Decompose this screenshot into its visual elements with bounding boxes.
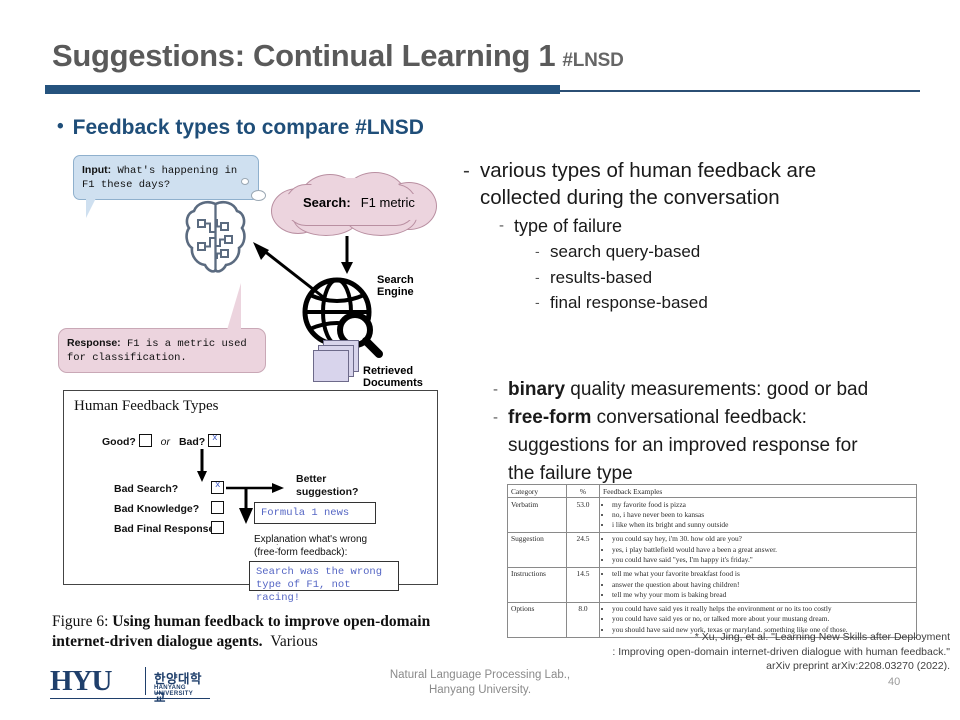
- list-item: you could have said yes it really helps …: [612, 604, 913, 614]
- section-bullet-heading: •Feedback types to compare #LNSD: [57, 116, 424, 140]
- page-title-tag: #LNSD: [562, 50, 623, 72]
- table-header-category: Category: [508, 485, 567, 498]
- list-item: yes, i play battlefield would have a bee…: [612, 545, 913, 555]
- table-header-percent: %: [567, 485, 600, 498]
- good-checkbox[interactable]: [139, 434, 152, 447]
- bullet-l2-type-of-failure: - type of failure: [499, 213, 933, 239]
- thought-dot-small-icon: [241, 178, 249, 185]
- cloud-search-label: Search:: [303, 195, 351, 210]
- bad-checkbox-checked[interactable]: [208, 434, 221, 447]
- list-item: i like when its bright and sunny outside: [612, 520, 913, 530]
- dash-icon: -: [535, 290, 550, 316]
- freeform-line2: suggestions for an improved response for: [508, 435, 858, 456]
- arrow-bad-down-icon: [195, 449, 211, 488]
- bullet-l1-various-types: - various types of human feedback are co…: [463, 157, 933, 211]
- bad-final-response-checkbox[interactable]: [211, 521, 224, 534]
- citation-line3: arXiv preprint arXiv:2208.03270 (2022).: [766, 660, 950, 672]
- title-rule-thick: [45, 85, 560, 94]
- table-cell-examples: you could say hey, i'm 30. how old are y…: [600, 532, 917, 567]
- human-feedback-types-box: Human Feedback Types Good? or Bad? Bad S…: [63, 390, 438, 585]
- feedback-examples-table-wrap: Category % Feedback Examples Verbatim 53…: [507, 484, 917, 638]
- response-speech-bubble: Response: F1 is a metric used for classi…: [58, 328, 266, 373]
- dash-icon: -: [463, 157, 480, 211]
- footer-lab-info: Natural Language Processing Lab., Hanyan…: [330, 668, 630, 698]
- hyu-logo-english: HANYANG UNIVERSITY: [154, 685, 210, 697]
- table-row: Instructions 14.5 tell me what your favo…: [508, 567, 917, 602]
- explanation-caption: Explanation what's wrong (free-form feed…: [254, 533, 367, 559]
- bullet-l3-results-based: - results-based: [535, 265, 933, 291]
- retrieved-documents-icon: [313, 340, 361, 380]
- citation-line1: * Xu, Jing, et al. "Learning New Skills …: [695, 631, 950, 643]
- explanation-line1: Explanation what's wrong: [254, 534, 367, 545]
- figure-dialogue-diagram: Input: What's happening in F1 these days…: [55, 150, 445, 390]
- dash-icon: -: [493, 404, 508, 488]
- better-suggestion-label: Better suggestion?: [296, 473, 358, 499]
- binary-keyword: binary: [508, 379, 565, 400]
- good-label: Good?: [102, 436, 136, 448]
- better-suggestion-line1: Better: [296, 473, 326, 485]
- dash-icon: -: [499, 213, 514, 239]
- input-speech-bubble: Input: What's happening in F1 these days…: [73, 155, 259, 200]
- slide-canvas: Suggestions: Continual Learning 1#LNSD •…: [0, 0, 960, 720]
- explanation-value-box[interactable]: Search was the wrong type of F1, not rac…: [249, 561, 399, 591]
- bullet-binary-quality: - binary quality measurements: good or b…: [493, 376, 933, 404]
- right-bullet-list-secondary: - binary quality measurements: good or b…: [463, 376, 933, 488]
- bad-label: Bad?: [179, 436, 205, 448]
- bad-knowledge-label: Bad Knowledge?: [114, 503, 199, 515]
- bullet-l3-label: final response-based: [550, 290, 708, 316]
- bullet-l2-label: type of failure: [514, 213, 622, 239]
- list-item: answer the question about having childre…: [612, 580, 913, 590]
- figure-caption: Figure 6: Using human feedback to improv…: [52, 612, 452, 652]
- or-label: or: [161, 436, 170, 448]
- hyu-logo-divider: [145, 667, 146, 695]
- bullet-dot-icon: •: [57, 116, 64, 138]
- bullet-l1-line1: various types of human feedback are: [480, 159, 816, 182]
- figure-caption-suffix: Various: [270, 633, 317, 650]
- table-cell-examples: my favorite food is pizza no, i have nev…: [600, 498, 917, 533]
- right-bullet-list: - various types of human feedback are co…: [463, 157, 933, 316]
- response-bubble-label: Response:: [67, 337, 121, 349]
- bad-search-checkbox-checked[interactable]: [211, 481, 224, 494]
- table-header-row: Category % Feedback Examples: [508, 485, 917, 498]
- list-item: tell me why your mom is baking bread: [612, 590, 913, 600]
- footer-line2: Hanyang University.: [429, 684, 531, 696]
- cloud-search-value: F1 metric: [361, 195, 415, 210]
- table-cell-percent: 53.0: [567, 498, 600, 533]
- figure-caption-prefix: Figure 6:: [52, 613, 108, 630]
- dash-icon: -: [493, 376, 508, 404]
- human-feedback-types-title: Human Feedback Types: [74, 398, 218, 415]
- bullet-l1-line2: collected during the conversation: [480, 186, 780, 209]
- ellipsis-marker: :: [276, 541, 279, 551]
- dash-icon: -: [535, 265, 550, 291]
- freeform-keyword: free-form: [508, 407, 591, 428]
- freeform-line3: the failure type: [508, 463, 633, 484]
- bad-search-label: Bad Search?: [114, 483, 178, 495]
- brain-icon: [183, 198, 248, 276]
- table-cell-percent: 24.5: [567, 532, 600, 567]
- table-cell-category: Instructions: [508, 567, 567, 602]
- page-number: 40: [888, 676, 900, 688]
- list-item: you could say hey, i'm 30. how old are y…: [612, 534, 913, 544]
- list-item: tell me what your favorite breakfast foo…: [612, 569, 913, 579]
- hyu-logo: HYU 한양대학교 HANYANG UNIVERSITY: [50, 665, 210, 699]
- bullet-l3-label: search query-based: [550, 239, 700, 265]
- page-title-main: Suggestions: Continual Learning 1: [52, 38, 555, 74]
- list-item: you could have said yes or no, or talked…: [612, 614, 913, 624]
- good-question-row: Good? or Bad?: [102, 434, 221, 448]
- suggestion-value-box[interactable]: Formula 1 news: [254, 502, 376, 524]
- bullet-free-form-feedback: - free-form conversational feedback: sug…: [493, 404, 933, 488]
- binary-rest: quality measurements: good or bad: [565, 379, 868, 400]
- table-row: Suggestion 24.5 you could say hey, i'm 3…: [508, 532, 917, 567]
- bullet-l3-final-response-based: - final response-based: [535, 290, 933, 316]
- table-cell-category: Suggestion: [508, 532, 567, 567]
- search-engine-label: Search Engine: [377, 274, 445, 298]
- list-item: my favorite food is pizza: [612, 500, 913, 510]
- table-cell-percent: 14.5: [567, 567, 600, 602]
- list-item: no, i have never been to kansas: [612, 510, 913, 520]
- freeform-rest: conversational feedback:: [591, 407, 806, 428]
- bad-knowledge-checkbox[interactable]: [211, 501, 224, 514]
- retrieved-documents-label: Retrieved Documents: [363, 365, 445, 389]
- hyu-logo-mark: HYU: [50, 665, 111, 698]
- table-header-examples: Feedback Examples: [600, 485, 917, 498]
- bullet-l3-search-query-based: - search query-based: [535, 239, 933, 265]
- bad-final-response-label: Bad Final Response?: [114, 523, 221, 535]
- explanation-line2: (free-form feedback):: [254, 547, 347, 558]
- section-bullet-label: Feedback types to compare #LNSD: [73, 116, 424, 139]
- footer-line1: Natural Language Processing Lab.,: [390, 669, 570, 681]
- better-suggestion-line2: suggestion?: [296, 486, 358, 498]
- list-item: you could have said "yes, I'm happy it's…: [612, 555, 913, 565]
- bullet-l3-label: results-based: [550, 265, 652, 291]
- thought-dot-large-icon: [251, 190, 266, 201]
- dash-icon: -: [535, 239, 550, 265]
- citation-text: * Xu, Jing, et al. "Learning New Skills …: [520, 630, 950, 674]
- page-title: Suggestions: Continual Learning 1#LNSD: [52, 38, 624, 74]
- hyu-logo-underbar: [50, 698, 210, 699]
- citation-line2: : Improving open-domain internet-driven …: [612, 646, 950, 658]
- table-cell-category: Verbatim: [508, 498, 567, 533]
- figure-caption-bold: Using human feedback to improve open-dom…: [52, 613, 430, 650]
- cloud-search-text: Search:F1 metric: [293, 195, 415, 210]
- input-bubble-label: Input:: [82, 164, 111, 176]
- table-cell-examples: tell me what your favorite breakfast foo…: [600, 567, 917, 602]
- feedback-examples-table: Category % Feedback Examples Verbatim 53…: [507, 484, 917, 638]
- table-row: Verbatim 53.0 my favorite food is pizza …: [508, 498, 917, 533]
